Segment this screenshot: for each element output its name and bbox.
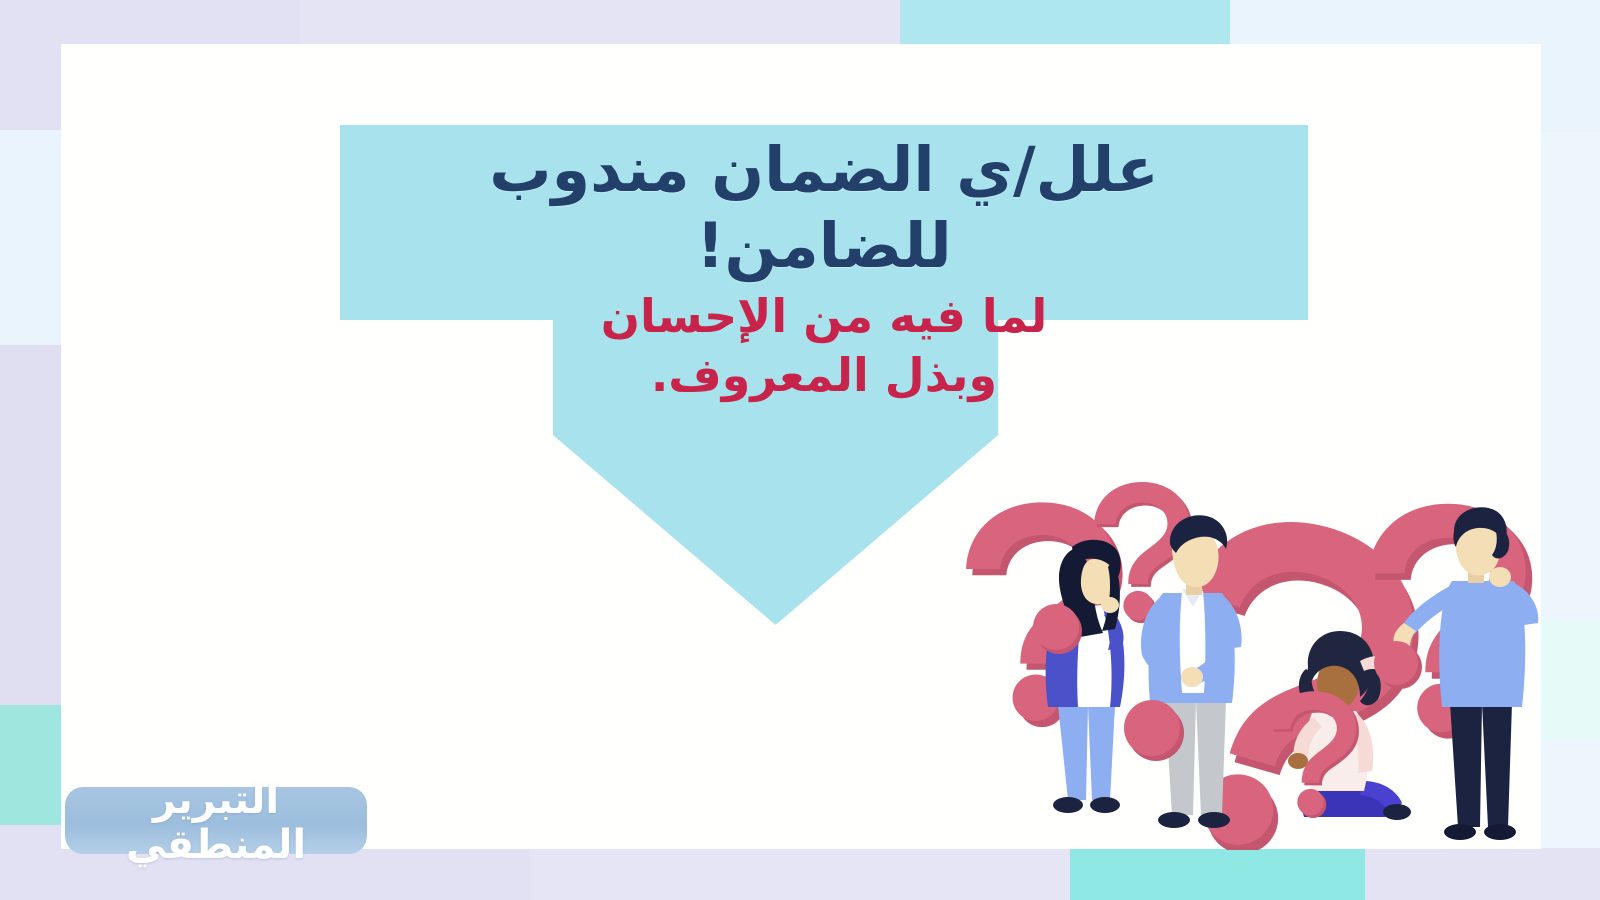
bg-block-lavender-bottom-middle [530, 848, 1070, 900]
bg-block-cyan-top-right [900, 0, 1230, 46]
figure-woman-leaning [1042, 540, 1125, 813]
page-subtitle: لما فيه من الإحسان وبذل المعروف. [589, 287, 1059, 405]
people-with-question-marks-illustration [960, 455, 1540, 850]
bg-block-lavender-top-middle [300, 0, 900, 48]
logo-line-1: التبرير [65, 778, 367, 823]
page-title: علل/ي الضمان مندوب للضامن! [340, 132, 1308, 283]
bg-block-cyan-bottom [1070, 848, 1365, 900]
logo-line-2: المنطقي [65, 823, 367, 868]
bg-block-lavender-bottom-right [1365, 848, 1600, 900]
text-block: علل/ي الضمان مندوب للضامن! لما فيه من ال… [340, 132, 1308, 405]
logo-text: التبرير المنطقي [65, 778, 367, 868]
slide-canvas: علل/ي الضمان مندوب للضامن! لما فيه من ال… [0, 0, 1600, 900]
